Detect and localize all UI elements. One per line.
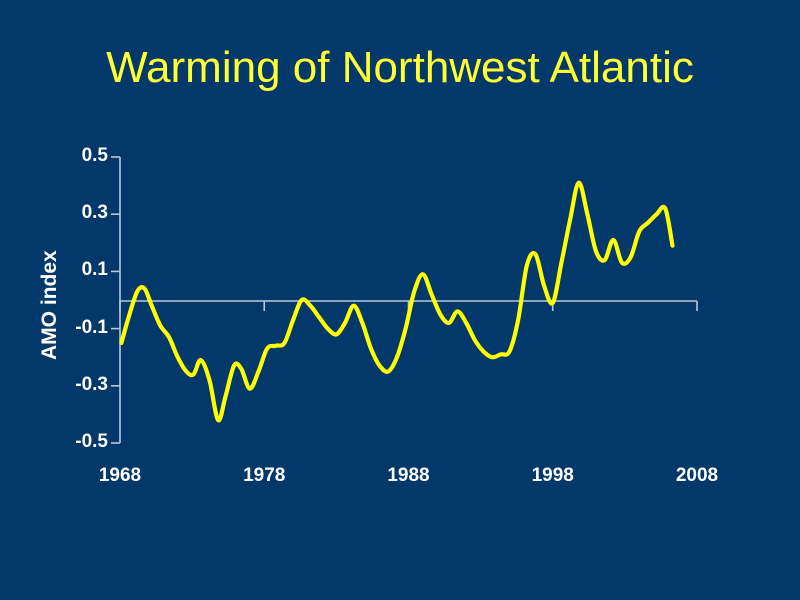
x-axis-tick-label: 1998 bbox=[508, 465, 598, 487]
x-axis-tick-label: 1988 bbox=[364, 465, 454, 487]
y-axis-tick-label: -0.1 bbox=[36, 317, 108, 339]
chart-axes bbox=[111, 157, 697, 443]
y-axis-tick-label: 0.1 bbox=[36, 259, 108, 281]
x-axis-tick-label: 2008 bbox=[652, 465, 742, 487]
y-axis-tick-label: 0.5 bbox=[36, 145, 108, 167]
y-axis-tick-label: -0.5 bbox=[36, 431, 108, 453]
y-axis-ticks bbox=[111, 157, 120, 443]
slide-root: Warming of Northwest Atlantic AMO index … bbox=[0, 0, 800, 600]
x-axis-tick-label: 1968 bbox=[75, 465, 165, 487]
amo-index-line-chart bbox=[0, 0, 800, 600]
y-axis-tick-label: -0.3 bbox=[36, 374, 108, 396]
x-axis-tick-label: 1978 bbox=[219, 465, 309, 487]
y-axis-tick-label: 0.3 bbox=[36, 202, 108, 224]
